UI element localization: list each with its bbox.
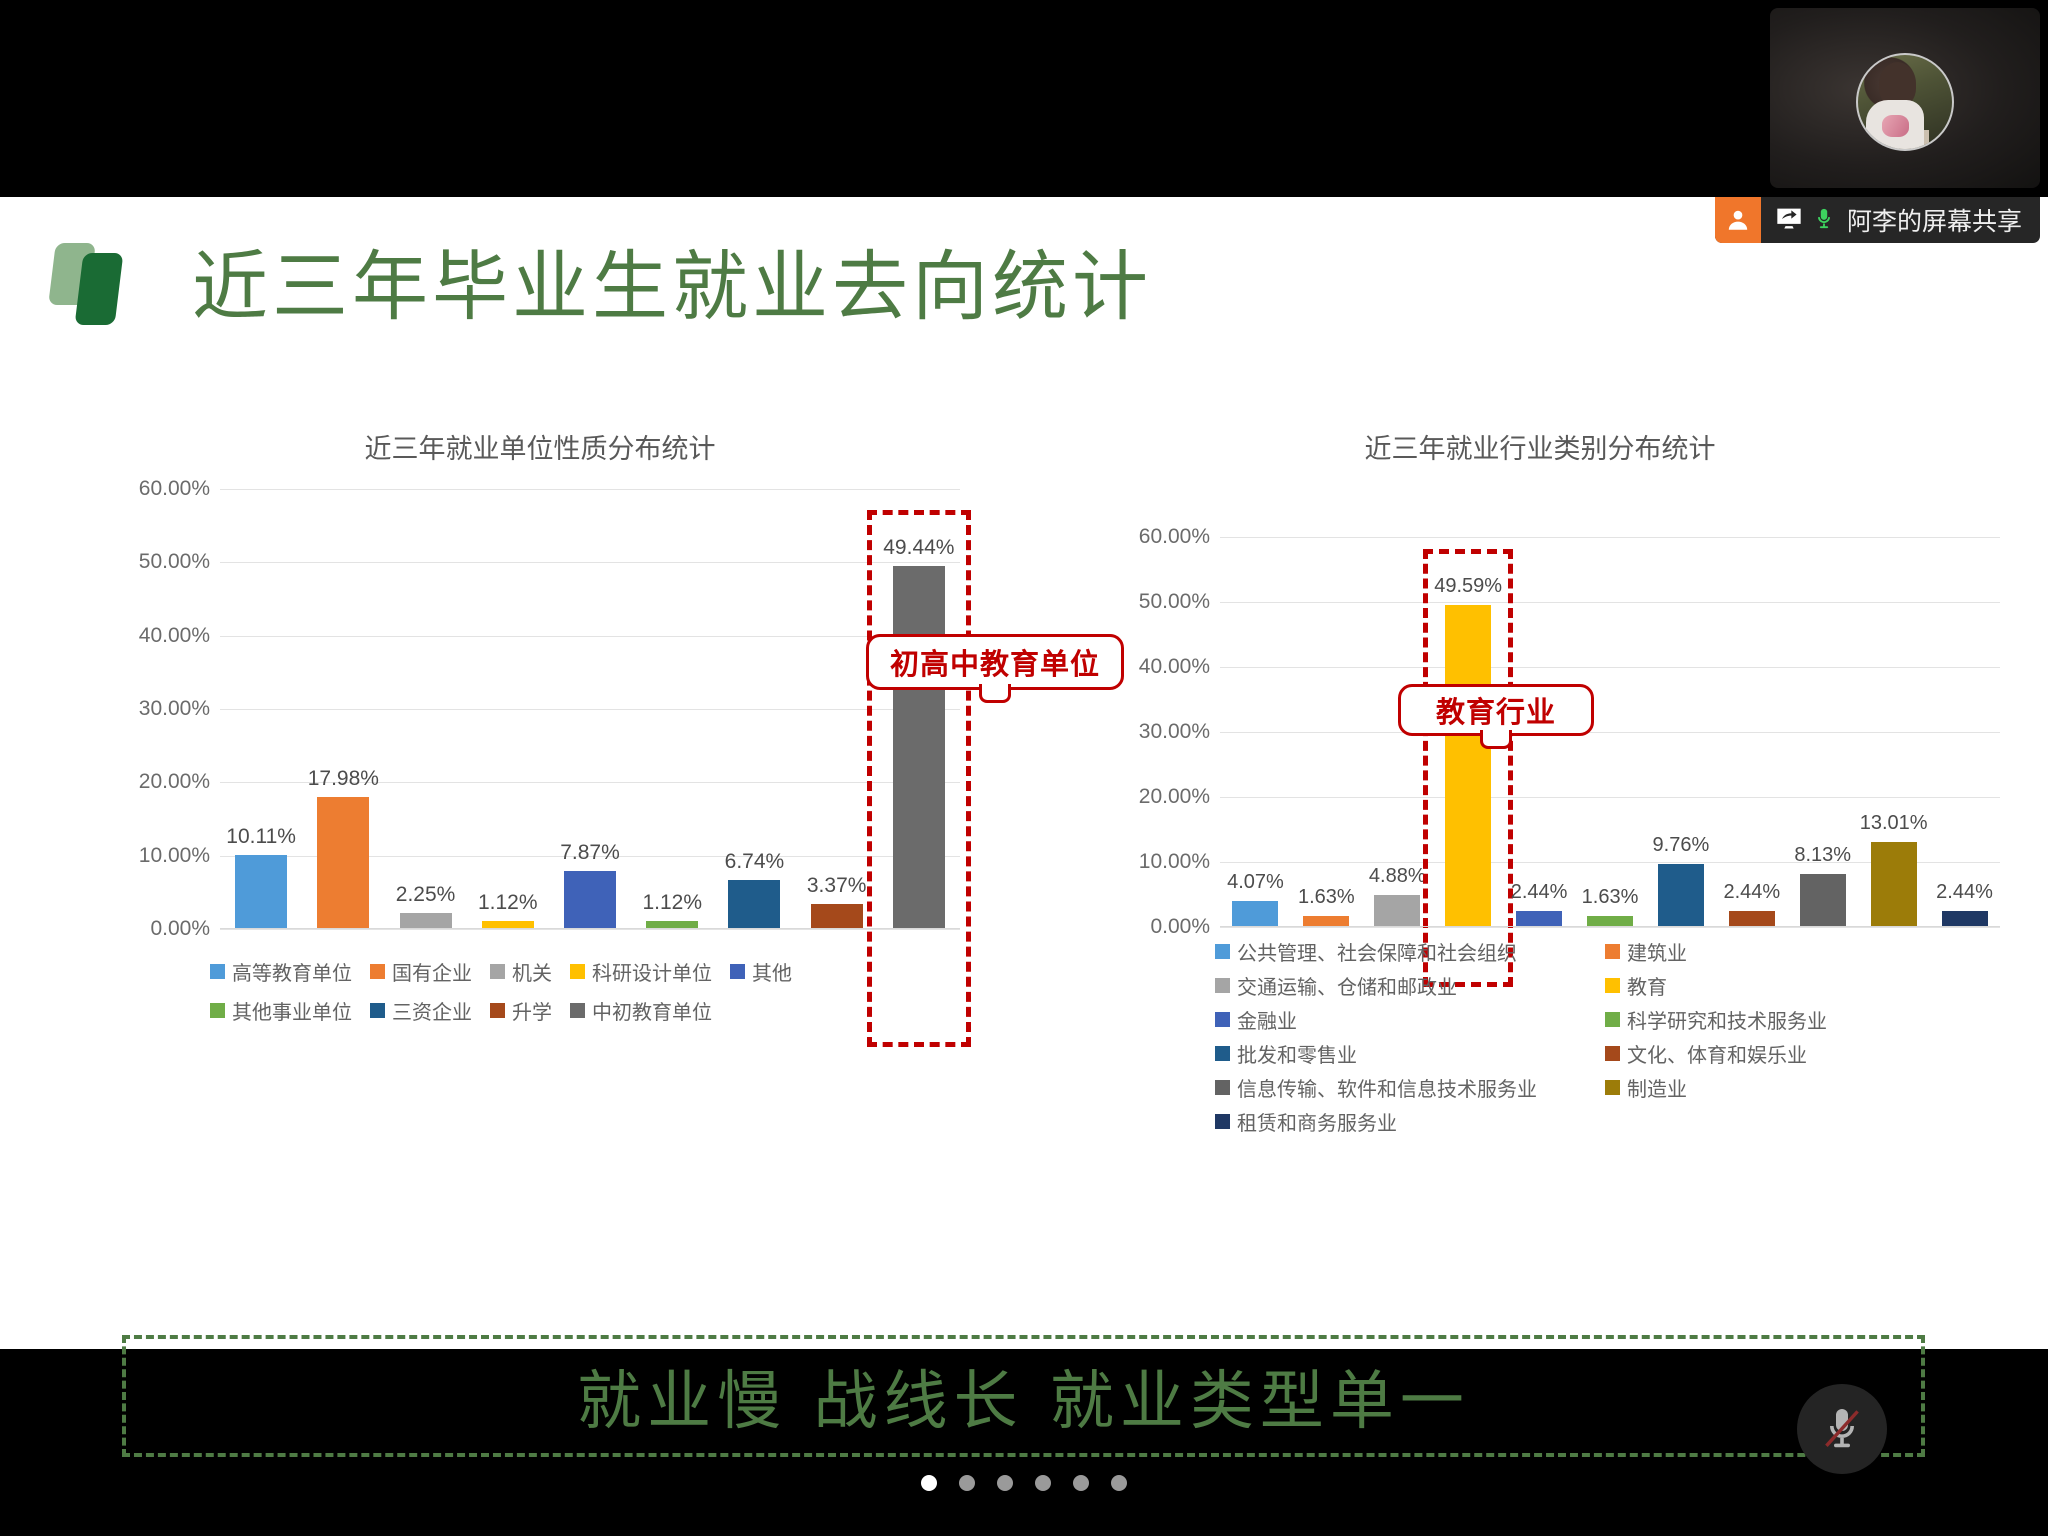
- page-dot[interactable]: [997, 1475, 1013, 1491]
- legend-item[interactable]: 升学: [490, 996, 552, 1025]
- bar-value-label: 17.98%: [308, 767, 379, 791]
- avatar: [1856, 53, 1954, 151]
- participant-video-tile[interactable]: [1770, 8, 2040, 188]
- legend-label: 科学研究和技术服务业: [1627, 1005, 1827, 1034]
- legend-label: 批发和零售业: [1237, 1039, 1357, 1068]
- bar-value-label: 3.37%: [807, 874, 867, 898]
- gridline: [220, 929, 960, 930]
- legend-label: 公共管理、社会保障和社会组织: [1237, 937, 1517, 966]
- bar-value-label: 2.44%: [1936, 881, 1993, 904]
- legend-item[interactable]: 高等教育单位: [210, 957, 352, 986]
- y-axis-tick-label: 20.00%: [139, 770, 210, 794]
- legend-swatch: [1215, 978, 1230, 993]
- legend-label: 其他事业单位: [232, 996, 352, 1025]
- bar-value-label: 6.74%: [725, 850, 785, 874]
- screen-share-status-bar[interactable]: 阿李的屏幕共享: [1715, 197, 2040, 243]
- legend-item[interactable]: 金融业: [1215, 1005, 1591, 1034]
- bar: [1516, 911, 1562, 927]
- y-axis-tick-label: 50.00%: [139, 550, 210, 574]
- summary-banner-text: 就业慢 战线长 就业类型单一: [577, 1350, 1470, 1442]
- legend-label: 高等教育单位: [232, 957, 352, 986]
- bar-value-label: 1.63%: [1582, 886, 1639, 909]
- shared-slide: 近三年毕业生就业去向统计 近三年就业单位性质分布统计 60.00%50.00%4…: [0, 197, 2048, 1349]
- y-axis-tick-label: 30.00%: [139, 697, 210, 721]
- page-dot[interactable]: [1111, 1475, 1127, 1491]
- legend-swatch: [1605, 1080, 1620, 1095]
- legend-swatch: [1215, 1080, 1230, 1095]
- page-indicator[interactable]: [0, 1475, 2048, 1491]
- legend-label: 教育: [1627, 971, 1667, 1000]
- legend-swatch: [1605, 1012, 1620, 1027]
- gridline: [1220, 602, 2000, 603]
- gridline: [220, 489, 960, 490]
- legend-swatch: [730, 964, 745, 979]
- bar: [400, 913, 452, 930]
- bar-value-label: 8.13%: [1794, 844, 1851, 867]
- legend-swatch: [210, 964, 225, 979]
- legend-item[interactable]: 公共管理、社会保障和社会组织: [1215, 937, 1591, 966]
- chart-legend: 公共管理、社会保障和社会组织建筑业交通运输、仓储和邮政业教育金融业科学研究和技术…: [1215, 937, 2015, 1136]
- share-bar-icons: [1761, 197, 1847, 243]
- person-icon: [1715, 197, 1761, 243]
- legend-swatch: [570, 964, 585, 979]
- page-dot[interactable]: [1035, 1475, 1051, 1491]
- legend-item[interactable]: 其他: [730, 957, 792, 986]
- bar-value-label: 1.12%: [642, 891, 702, 915]
- legend-label: 科研设计单位: [592, 957, 712, 986]
- legend-label: 交通运输、仓储和邮政业: [1237, 971, 1457, 1000]
- share-bar-label: 阿李的屏幕共享: [1847, 197, 2040, 243]
- gridline: [220, 636, 960, 637]
- bar-value-label: 1.63%: [1298, 886, 1355, 909]
- y-axis-tick-label: 0.00%: [150, 917, 210, 941]
- plot-area: 60.00%50.00%40.00%30.00%20.00%10.00%0.00…: [1220, 537, 2000, 927]
- legend-item[interactable]: 机关: [490, 957, 552, 986]
- y-axis-tick-label: 60.00%: [1139, 525, 1210, 549]
- legend-label: 租赁和商务服务业: [1237, 1107, 1397, 1136]
- legend-item[interactable]: 教育: [1605, 971, 1981, 1000]
- bar-value-label: 7.87%: [560, 841, 620, 865]
- legend-swatch: [1605, 1046, 1620, 1061]
- legend-item[interactable]: 文化、体育和娱乐业: [1605, 1039, 1981, 1068]
- bar-value-label: 2.25%: [396, 883, 456, 907]
- x-axis: [1220, 926, 2000, 927]
- legend-swatch: [490, 964, 505, 979]
- chart-legend: 高等教育单位国有企业机关科研设计单位其他其他事业单位三资企业升学中初教育单位: [210, 957, 950, 1025]
- legend-swatch: [1605, 978, 1620, 993]
- legend-label: 文化、体育和娱乐业: [1627, 1039, 1807, 1068]
- gridline: [1220, 667, 2000, 668]
- legend-swatch: [370, 964, 385, 979]
- chart-title: 近三年就业单位性质分布统计: [100, 427, 980, 466]
- legend-label: 机关: [512, 957, 552, 986]
- page-dot[interactable]: [959, 1475, 975, 1491]
- bar: [1232, 901, 1278, 927]
- gridline: [220, 562, 960, 563]
- bar: [1729, 911, 1775, 927]
- legend-swatch: [570, 1003, 585, 1018]
- bar: [235, 855, 287, 929]
- bar-value-label: 2.44%: [1511, 881, 1568, 904]
- bar-value-label: 1.12%: [478, 891, 538, 915]
- gridline: [1220, 927, 2000, 928]
- y-axis-tick-label: 60.00%: [139, 477, 210, 501]
- y-axis-tick-label: 50.00%: [1139, 590, 1210, 614]
- y-axis-tick-label: 40.00%: [139, 624, 210, 648]
- bar: [1942, 911, 1988, 927]
- legend-label: 建筑业: [1627, 937, 1687, 966]
- legend-label: 制造业: [1627, 1073, 1687, 1102]
- bar: [728, 880, 780, 929]
- chart-title: 近三年就业行业类别分布统计: [1060, 427, 2020, 466]
- legend-swatch: [490, 1003, 505, 1018]
- organization-logo-icon: [52, 239, 136, 323]
- legend-item[interactable]: 租赁和商务服务业: [1215, 1107, 1591, 1136]
- legend-label: 升学: [512, 996, 552, 1025]
- bar-value-label: 10.11%: [226, 825, 296, 849]
- mute-toggle-button[interactable]: [1797, 1384, 1887, 1474]
- page-dot[interactable]: [921, 1475, 937, 1491]
- microphone-icon[interactable]: [1813, 204, 1835, 237]
- legend-item[interactable]: 科学研究和技术服务业: [1605, 1005, 1981, 1034]
- bar: [1374, 895, 1420, 927]
- legend-label: 国有企业: [392, 957, 472, 986]
- highlight-box: [1423, 549, 1513, 987]
- bar: [317, 797, 369, 929]
- page-dot[interactable]: [1073, 1475, 1089, 1491]
- legend-item[interactable]: 制造业: [1605, 1073, 1981, 1102]
- bar-value-label: 9.76%: [1653, 834, 1710, 857]
- bar: [1658, 864, 1704, 927]
- legend-swatch: [1605, 944, 1620, 959]
- legend-item[interactable]: 国有企业: [370, 957, 472, 986]
- legend-item[interactable]: 批发和零售业: [1215, 1039, 1591, 1068]
- unit-nature-chart: 近三年就业单位性质分布统计 60.00%50.00%40.00%30.00%20…: [100, 427, 980, 1067]
- legend-label: 金融业: [1237, 1005, 1297, 1034]
- gridline: [1220, 732, 2000, 733]
- bar-value-label: 13.01%: [1860, 812, 1928, 835]
- legend-swatch: [210, 1003, 225, 1018]
- legend-label: 信息传输、软件和信息技术服务业: [1237, 1073, 1537, 1102]
- plot-area: 60.00%50.00%40.00%30.00%20.00%10.00%0.00…: [220, 489, 960, 929]
- legend-label: 中初教育单位: [592, 996, 712, 1025]
- legend-label: 其他: [752, 957, 792, 986]
- y-axis-tick-label: 20.00%: [1139, 785, 1210, 809]
- legend-label: 三资企业: [392, 996, 472, 1025]
- legend-item[interactable]: 三资企业: [370, 996, 472, 1025]
- bar-value-label: 4.07%: [1227, 871, 1284, 894]
- y-axis-tick-label: 0.00%: [1150, 915, 1210, 939]
- x-axis: [220, 928, 960, 929]
- legend-item[interactable]: 信息传输、软件和信息技术服务业: [1215, 1073, 1591, 1102]
- bar: [1871, 842, 1917, 927]
- bar: [564, 871, 616, 929]
- bar: [1800, 874, 1846, 927]
- legend-item[interactable]: 建筑业: [1605, 937, 1981, 966]
- bar-value-label: 2.44%: [1723, 881, 1780, 904]
- bar: [811, 904, 863, 929]
- legend-item[interactable]: 中初教育单位: [570, 996, 712, 1025]
- legend-swatch: [1215, 1046, 1230, 1061]
- legend-swatch: [370, 1003, 385, 1018]
- industry-category-chart: 近三年就业行业类别分布统计 60.00%50.00%40.00%30.00%20…: [1060, 427, 2020, 1067]
- summary-banner: 就业慢 战线长 就业类型单一: [122, 1335, 1925, 1457]
- callout-industry: 教育行业: [1398, 684, 1594, 736]
- y-axis-tick-label: 10.00%: [1139, 850, 1210, 874]
- microphone-muted-icon: [1818, 1405, 1866, 1453]
- gridline: [1220, 797, 2000, 798]
- legend-swatch: [1215, 1114, 1230, 1129]
- legend-swatch: [1215, 944, 1230, 959]
- legend-swatch: [1215, 1012, 1230, 1027]
- bar-value-label: 4.88%: [1369, 865, 1426, 888]
- screen-share-icon[interactable]: [1775, 204, 1803, 237]
- gridline: [1220, 537, 2000, 538]
- legend-item[interactable]: 科研设计单位: [570, 957, 712, 986]
- page-title: 近三年毕业生就业去向统计: [192, 225, 1152, 335]
- y-axis-tick-label: 40.00%: [1139, 655, 1210, 679]
- y-axis-tick-label: 30.00%: [1139, 720, 1210, 744]
- y-axis-tick-label: 10.00%: [139, 844, 210, 868]
- gridline: [220, 709, 960, 710]
- legend-item[interactable]: 其他事业单位: [210, 996, 352, 1025]
- legend-item[interactable]: 交通运输、仓储和邮政业: [1215, 971, 1591, 1000]
- screen-root: 近三年毕业生就业去向统计 近三年就业单位性质分布统计 60.00%50.00%4…: [0, 0, 2048, 1536]
